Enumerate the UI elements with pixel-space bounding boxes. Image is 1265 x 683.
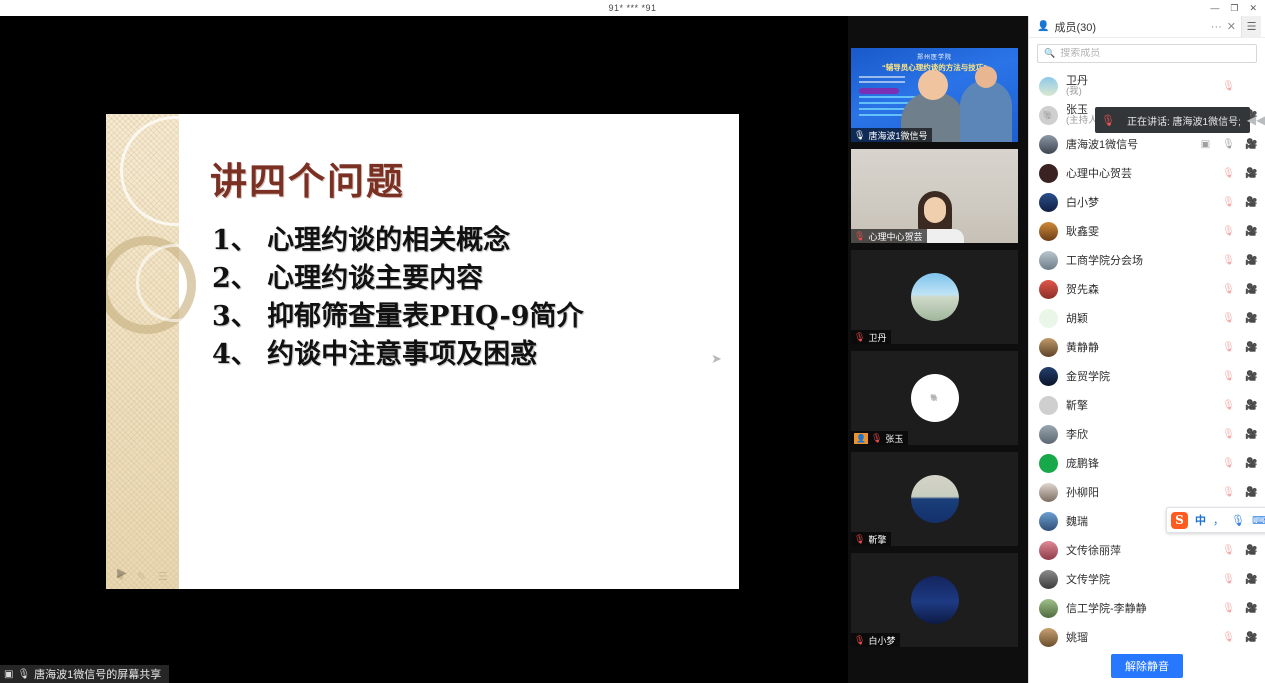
microphone-muted-icon[interactable]: 🎙	[1221, 458, 1236, 469]
participants-list[interactable]: 卫丹 (我) 🎙 🐘 张玉 (主持人) 🎙 🎥	[1029, 72, 1265, 649]
avatar	[1039, 280, 1058, 299]
avatar: 🐘	[1039, 106, 1058, 125]
participant-text: 白小梦	[1066, 197, 1099, 209]
camera-muted-icon[interactable]: 🎥	[1244, 487, 1259, 498]
participant-row[interactable]: 唐海波1微信号 ▣ 🎙 🎥	[1029, 130, 1265, 159]
avatar	[1039, 512, 1058, 531]
participant-row[interactable]: 白小梦 🎙 🎥	[1029, 188, 1265, 217]
participant-role: (我)	[1066, 86, 1088, 98]
window-title: 91* *** *91	[608, 3, 656, 13]
video-tile[interactable]: 🎙 靳擎	[851, 452, 1018, 546]
participant-text: 黄静静	[1066, 342, 1099, 354]
search-icon: 🔍	[1044, 48, 1055, 59]
participant-text: 唐海波1微信号	[1066, 139, 1138, 151]
camera-muted-icon[interactable]: 🎥	[1244, 342, 1259, 353]
microphone-on-icon: 🎙	[854, 130, 865, 141]
camera-muted-icon[interactable]: 🎥	[1244, 313, 1259, 324]
screen-share-status-text: 唐海波1微信号的屏幕共享	[34, 666, 161, 682]
participant-name: 李欣	[1066, 429, 1088, 441]
avatar	[1039, 483, 1058, 502]
participant-row[interactable]: 贺先森 🎙 🎥	[1029, 275, 1265, 304]
participant-row[interactable]: 胡颖 🎙 🎥	[1029, 304, 1265, 333]
participant-row[interactable]: 文传徐丽萍 🎙 🎥	[1029, 536, 1265, 565]
close-panel-icon[interactable]: ✕	[1227, 20, 1236, 33]
camera-muted-icon[interactable]: 🎥	[1244, 545, 1259, 556]
ime-mode-toggle[interactable]: 中	[1195, 512, 1206, 528]
participant-row[interactable]: 心理中心贺芸 🎙 🎥	[1029, 159, 1265, 188]
microphone-muted-icon[interactable]: 🎙	[1221, 545, 1236, 556]
camera-muted-icon[interactable]: 🎥	[1244, 371, 1259, 382]
video-tile-nameplate: 🎙 白小梦	[851, 633, 900, 647]
participant-row[interactable]: 姚瑠 🎙 🎥	[1029, 623, 1265, 649]
maximize-button[interactable]: ❐	[1230, 4, 1238, 13]
slide-bullet-list: 1、 心理约谈的相关概念 2、 心理约谈主要内容 3、 抑郁筛查量表PHQ-9简…	[212, 222, 584, 374]
participant-name: 文传徐丽萍	[1066, 545, 1121, 557]
slide-decoration: ◄ ✎ ☰	[106, 114, 179, 589]
camera-muted-icon[interactable]: 🎥	[1244, 603, 1259, 614]
person-face	[924, 197, 946, 223]
participant-name: 靳擎	[1066, 400, 1088, 412]
members-icon: 👤	[1037, 21, 1049, 32]
camera-muted-icon[interactable]: 🎥	[1244, 400, 1259, 411]
microphone-muted-icon: 🎙	[854, 534, 865, 545]
avatar	[1039, 338, 1058, 357]
avatar	[1039, 570, 1058, 589]
slide-title: 讲四个问题	[210, 151, 405, 205]
participant-text: 李欣	[1066, 429, 1088, 441]
participant-name: 魏瑞	[1066, 516, 1088, 528]
avatar	[1039, 251, 1058, 270]
microphone-muted-icon: 🎙	[854, 332, 865, 343]
avatar	[1039, 309, 1058, 328]
person-silhouette	[960, 80, 1012, 142]
more-options-icon[interactable]: ···	[1211, 21, 1222, 33]
participant-name: 文传学院	[1066, 574, 1110, 586]
video-tile-name: 卫丹	[868, 331, 886, 344]
participant-row[interactable]: 庞鹏锋 🎙 🎥	[1029, 449, 1265, 478]
participant-name: 庞鹏锋	[1066, 458, 1099, 470]
video-tile-nameplate: 🎙 靳擎	[851, 532, 891, 546]
camera-muted-icon[interactable]: 🎥	[1244, 632, 1259, 643]
screen-icon: ▣	[4, 669, 13, 680]
participant-text: 文传学院	[1066, 574, 1110, 586]
video-tile-nameplate: 🎙 卫丹	[851, 330, 891, 344]
participant-row[interactable]: 黄静静 🎙 🎥	[1029, 333, 1265, 362]
avatar	[1039, 628, 1058, 647]
presentation-slide: ◄ ✎ ☰ ► 讲四个问题 1、 心理约谈的相关概念 2、 心理约谈主要内容 3…	[106, 114, 739, 589]
participant-name: 唐海波1微信号	[1066, 139, 1138, 151]
slide-bullet: 4、 约谈中注意事项及困惑	[212, 336, 584, 374]
participant-name: 工商学院分会场	[1066, 255, 1143, 267]
participant-row[interactable]: 靳擎 🎙 🎥	[1029, 391, 1265, 420]
camera-muted-icon[interactable]: 🎥	[1244, 284, 1259, 295]
camera-muted-icon[interactable]: 🎥	[1244, 429, 1259, 440]
participant-text: 卫丹 (我)	[1066, 75, 1088, 98]
microphone-muted-icon: 🎙	[1101, 114, 1115, 127]
participant-row[interactable]: 金贸学院 🎙 🎥	[1029, 362, 1265, 391]
search-input[interactable]	[1060, 48, 1250, 59]
microphone-muted-icon[interactable]: 🎙	[1221, 429, 1236, 440]
video-tile-name: 张玉	[885, 432, 903, 445]
microphone-muted-icon[interactable]: 🎙	[1221, 342, 1236, 353]
video-tile-name: 唐海波1微信号	[868, 129, 927, 142]
avatar	[1039, 396, 1058, 415]
avatar	[911, 576, 959, 624]
screen-share-icon[interactable]: ▣	[1198, 139, 1213, 150]
screen-share-statusbar: ▣ 🎙 唐海波1微信号的屏幕共享	[0, 665, 169, 683]
share-pill	[859, 88, 899, 94]
avatar	[1039, 222, 1058, 241]
microphone-muted-icon[interactable]: 🎙	[1221, 284, 1236, 295]
slide-next-icon[interactable]: ►	[114, 565, 130, 583]
microphone-muted-icon[interactable]: 🎙	[1221, 371, 1236, 382]
slide-bullet: 3、 抑郁筛查量表PHQ-9简介	[212, 298, 584, 336]
microphone-muted-icon[interactable]: 🎙	[1221, 255, 1236, 266]
sound-wave-icon: ◀◀	[1247, 113, 1265, 127]
video-tile-nameplate: 🎙 心理中心贺芸	[851, 229, 927, 243]
microphone-icon: 🎙	[17, 669, 30, 680]
ime-keyboard-icon[interactable]: ⌨	[1252, 514, 1265, 527]
search-container: 🔍	[1029, 38, 1265, 68]
microphone-muted-icon[interactable]: 🎙	[1221, 168, 1236, 179]
participant-text: 贺先森	[1066, 284, 1099, 296]
shared-screen-stage[interactable]: ◄ ✎ ☰ ► 讲四个问题 1、 心理约谈的相关概念 2、 心理约谈主要内容 3…	[0, 16, 848, 683]
participant-name: 耿鑫雯	[1066, 226, 1099, 238]
avatar	[911, 475, 959, 523]
avatar	[1039, 367, 1058, 386]
participant-row[interactable]: 李欣 🎙 🎥	[1029, 420, 1265, 449]
slide-bullet: 1、 心理约谈的相关概念	[212, 222, 584, 260]
microphone-muted-icon[interactable]: 🎙	[1221, 197, 1236, 208]
sogou-logo-icon[interactable]: S	[1171, 512, 1188, 529]
microphone-muted-icon[interactable]: 🎙	[1221, 574, 1236, 585]
camera-muted-icon[interactable]: 🎥	[1244, 226, 1259, 237]
video-tile[interactable]: 🎙 卫丹	[851, 250, 1018, 344]
window-controls: — ❐ ✕	[1210, 0, 1263, 16]
video-tile-nameplate: 👤 🎙 张玉	[851, 431, 908, 445]
participant-name: 贺先森	[1066, 284, 1099, 296]
microphone-muted-icon: 🎙	[871, 433, 882, 444]
avatar: 🐘	[911, 374, 959, 422]
avatar	[1039, 541, 1058, 560]
app-root: 91* *** *91 — ❐ ✕ ◄ ✎ ☰ ► 讲四个问题 1、 心理约	[0, 0, 1265, 683]
minimize-button[interactable]: —	[1210, 4, 1219, 13]
camera-muted-icon[interactable]: 🎥	[1244, 458, 1259, 469]
participant-text: 信工学院-李静静	[1066, 603, 1147, 615]
participant-text: 魏瑞	[1066, 516, 1088, 528]
participant-name: 信工学院-李静静	[1066, 603, 1147, 615]
camera-muted-icon[interactable]: 🎥	[1244, 197, 1259, 208]
participant-text: 孙柳阳	[1066, 487, 1099, 499]
hamburger-menu-icon[interactable]: ☰	[1241, 16, 1261, 38]
participant-text: 文传徐丽萍	[1066, 545, 1121, 557]
video-tile-nameplate: 🎙 唐海波1微信号	[851, 128, 932, 142]
microphone-muted-icon[interactable]: 🎙	[1221, 632, 1236, 643]
participants-panel-header: 👤 成员(30) ··· ✕ ☰	[1029, 16, 1265, 38]
participant-text: 工商学院分会场	[1066, 255, 1143, 267]
share-text-lines	[859, 76, 905, 86]
mouse-cursor-icon: ➤	[711, 352, 721, 366]
participant-text: 心理中心贺芸	[1066, 168, 1132, 180]
participant-text: 耿鑫雯	[1066, 226, 1099, 238]
camera-muted-icon[interactable]: 🎥	[1244, 255, 1259, 266]
participant-row[interactable]: 文传学院 🎙 🎥	[1029, 565, 1265, 594]
microphone-muted-icon[interactable]: 🎙	[1221, 313, 1236, 324]
participant-text: 胡颖	[1066, 313, 1088, 325]
participant-row[interactable]: 耿鑫雯 🎙 🎥	[1029, 217, 1265, 246]
avatar	[1039, 164, 1058, 183]
share-logo-text: 郑州医学院	[917, 52, 952, 61]
participants-panel-title: 成员(30)	[1054, 19, 1096, 35]
participant-text: 靳擎	[1066, 400, 1088, 412]
participants-panel-footer: 解除静音	[1029, 649, 1265, 683]
video-thumbnail-strip[interactable]: 郑州医学院 “辅导员心理约谈的方法与技巧” 🎙 唐海波1微信号 🎙	[848, 16, 1028, 683]
slide-pen-icon[interactable]: ✎	[137, 570, 146, 583]
video-tile[interactable]: 郑州医学院 “辅导员心理约谈的方法与技巧” 🎙 唐海波1微信号	[851, 48, 1018, 142]
participant-row[interactable]: 信工学院-李静静 🎙 🎥	[1029, 594, 1265, 623]
participant-text: 金贸学院	[1066, 371, 1110, 383]
video-tile-name: 靳擎	[868, 533, 886, 546]
avatar	[1039, 454, 1058, 473]
slide-bullet: 2、 心理约谈主要内容	[212, 260, 584, 298]
avatar	[911, 273, 959, 321]
microphone-muted-icon[interactable]: 🎙	[1221, 81, 1236, 92]
avatar	[1039, 425, 1058, 444]
ime-toolbar[interactable]: S 中 ， 🎙 ⌨ ▦	[1166, 507, 1265, 533]
video-tile-name: 白小梦	[868, 634, 895, 647]
microphone-muted-icon[interactable]: 🎙	[1221, 487, 1236, 498]
participant-name: 胡颖	[1066, 313, 1088, 325]
participant-name: 白小梦	[1066, 197, 1099, 209]
video-tile[interactable]: 🐘 👤 🎙 张玉	[851, 351, 1018, 445]
participant-name: 心理中心贺芸	[1066, 168, 1132, 180]
active-speaker-text: 正在讲话: 唐海波1微信号;	[1127, 113, 1241, 128]
avatar	[1039, 599, 1058, 618]
ime-punctuation-icon[interactable]: ，	[1213, 512, 1224, 528]
video-tile[interactable]: 🎙 白小梦	[851, 553, 1018, 647]
ime-voice-icon[interactable]: 🎙	[1231, 514, 1245, 527]
microphone-muted-icon[interactable]: 🎙	[1221, 400, 1236, 411]
camera-on-icon[interactable]: 🎥	[1244, 139, 1259, 150]
microphone-muted-icon: 🎙	[854, 635, 865, 646]
participant-text: 庞鹏锋	[1066, 458, 1099, 470]
window-titlebar: 91* *** *91 — ❐ ✕	[0, 0, 1265, 16]
participant-row[interactable]: 孙柳阳 🎙 🎥	[1029, 478, 1265, 507]
participant-name: 孙柳阳	[1066, 487, 1099, 499]
camera-muted-icon[interactable]: 🎥	[1244, 574, 1259, 585]
unmute-button[interactable]: 解除静音	[1111, 654, 1183, 678]
avatar	[1039, 77, 1058, 96]
avatar	[1039, 193, 1058, 212]
participant-name: 金贸学院	[1066, 371, 1110, 383]
microphone-muted-icon: 🎙	[854, 231, 865, 242]
microphone-on-icon[interactable]: 🎙	[1221, 139, 1236, 150]
video-tile-name: 心理中心贺芸	[868, 230, 922, 243]
participant-name: 黄静静	[1066, 342, 1099, 354]
slide-menu-icon[interactable]: ☰	[158, 570, 168, 583]
search-box[interactable]: 🔍	[1037, 44, 1257, 63]
camera-muted-icon[interactable]: 🎥	[1244, 168, 1259, 179]
video-tile[interactable]: 🎙 心理中心贺芸	[851, 149, 1018, 243]
microphone-muted-icon[interactable]: 🎙	[1221, 603, 1236, 614]
host-badge-icon: 👤	[854, 433, 868, 444]
participant-text: 姚瑠	[1066, 632, 1088, 644]
participant-name: 姚瑠	[1066, 632, 1088, 644]
avatar	[1039, 135, 1058, 154]
active-speaker-tooltip: 🎙 正在讲话: 唐海波1微信号; ◀◀ ↶	[1095, 107, 1250, 133]
decorative-ring	[136, 244, 214, 322]
microphone-muted-icon[interactable]: 🎙	[1221, 226, 1236, 237]
close-button[interactable]: ✕	[1249, 4, 1257, 13]
participant-row[interactable]: 工商学院分会场 🎙 🎥	[1029, 246, 1265, 275]
participant-row[interactable]: 卫丹 (我) 🎙	[1029, 72, 1265, 101]
